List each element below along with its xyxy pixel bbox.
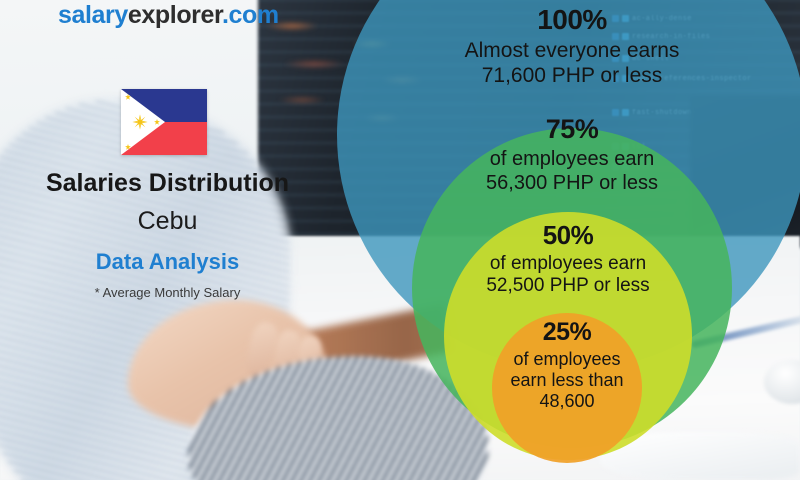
flag-star-icon [154,119,160,125]
bubble-label-100: 100% Almost everyone earns 71,600 PHP or… [382,4,762,88]
flag-sun-icon [132,114,148,130]
bubble-line2-50: 52,500 PHP or less [444,275,692,297]
bubble-percent-50: 50% [444,220,692,250]
bubble-line1-50: of employees earn [444,253,692,275]
bubble-line2-100: 71,600 PHP or less [382,64,762,88]
location-label: Cebu [0,208,335,236]
site-logo[interactable]: salaryexplorer.com [58,3,279,28]
bubble-line2-75: 56,300 PHP or less [412,172,732,195]
occupation-label: Data Analysis [0,250,335,274]
logo-text-explorer: explorer [128,1,222,29]
philippines-flag-icon [121,89,207,155]
flag-star-icon [125,144,131,150]
bubble-line2-25: earn less than [470,370,664,391]
bubble-line1-25: of employees [470,349,664,370]
bubble-percent-75: 75% [412,114,732,145]
salary-distribution-infographic: ac-ally-dense research-in-files ac-shell… [0,0,800,480]
bubble-label-25: 25% of employees earn less than 48,600 [470,318,664,412]
bubble-line1-100: Almost everyone earns [382,39,762,63]
logo-text-tld: .com [222,1,279,29]
flag-star-icon [125,94,131,100]
bubble-label-75: 75% of employees earn 56,300 PHP or less [412,114,732,195]
page-title: Salaries Distribution [0,170,335,198]
bubble-line1-75: of employees earn [412,148,732,171]
bubble-line3-25: 48,600 [470,391,664,412]
bubble-percent-100: 100% [382,4,762,36]
logo-text-salary: salary [58,1,128,29]
bubble-label-50: 50% of employees earn 52,500 PHP or less [444,220,692,297]
footnote-label: * Average Monthly Salary [0,286,335,300]
bubble-percent-25: 25% [470,318,664,347]
